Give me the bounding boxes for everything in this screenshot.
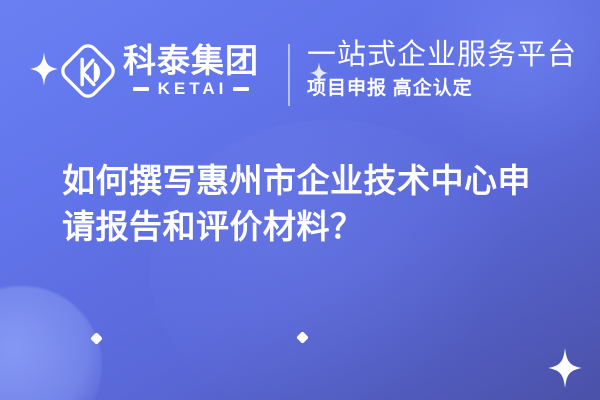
logo-dash-right	[233, 87, 249, 91]
slogan-sub: 项目申报 高企认定	[307, 78, 577, 100]
four-point-star-icon	[30, 52, 58, 86]
slogan-main: 一站式企业服务平台	[307, 38, 577, 72]
logo-dash-left	[133, 87, 149, 91]
brand-logo: 科泰集团 KETAI	[57, 40, 259, 102]
diamond-dot-icon	[90, 332, 103, 345]
kd-diamond-logo-icon	[57, 40, 119, 102]
brand-logo-text: 科泰集团 KETAI	[123, 44, 259, 98]
four-point-star-icon	[548, 348, 582, 388]
slogan-block: 一站式企业服务平台 项目申报 高企认定	[307, 38, 577, 100]
header-divider	[288, 44, 290, 106]
four-point-star-icon	[310, 62, 328, 84]
brand-name-en-row: KETAI	[123, 80, 259, 98]
brand-name-cn: 科泰集团	[123, 44, 259, 78]
diamond-dot-icon	[296, 331, 309, 344]
brand-name-en: KETAI	[158, 80, 228, 98]
decorative-blob-bottom-left	[0, 286, 102, 400]
page-title: 如何撰写惠州市企业技术中心申请报告和评价材料？	[62, 158, 562, 250]
promo-banner: 科泰集团 KETAI 一站式企业服务平台 项目申报 高企认定 如何撰写惠州市企业…	[0, 0, 600, 400]
